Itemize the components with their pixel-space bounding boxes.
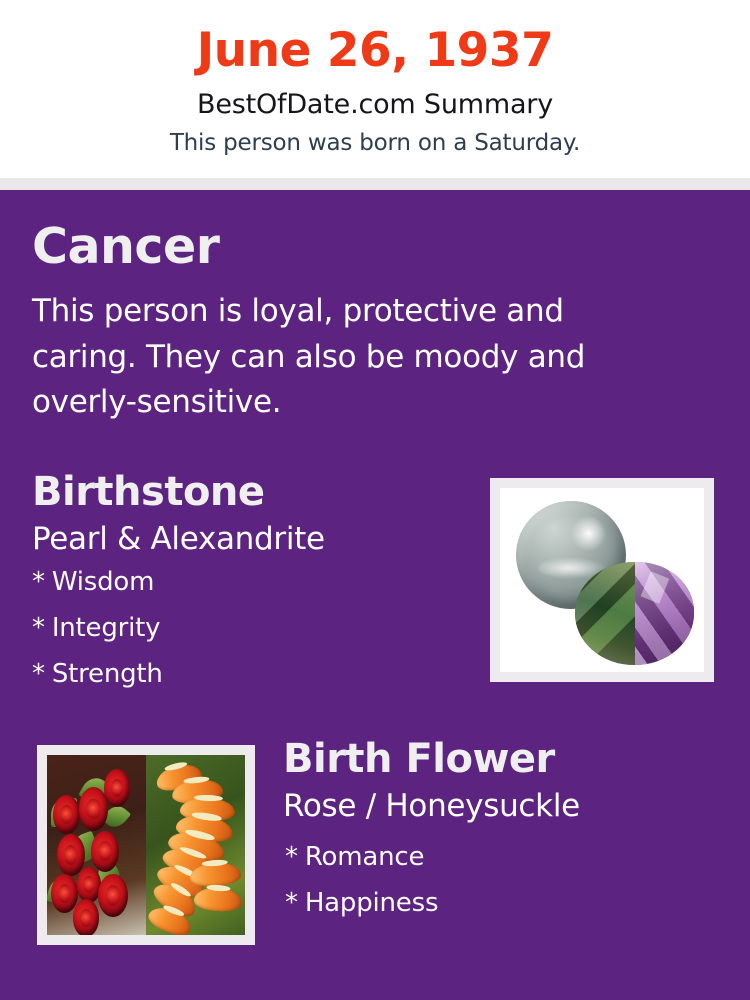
asterisk-icon: * [32,567,45,597]
page-title: June 26, 1937 [0,0,750,74]
site-name-label: BestOfDate.com Summary [0,74,750,118]
rose-photo-half [47,755,146,935]
asterisk-icon: * [285,842,298,872]
list-item: *Strength [32,661,325,687]
birth-flower-image [47,755,245,935]
asterisk-icon: * [32,613,45,643]
summary-card: June 26, 1937 BestOfDate.com Summary Thi… [0,0,750,1000]
birthstone-trait-label: Wisdom [52,567,154,597]
asterisk-icon: * [32,659,45,689]
birthstone-trait-label: Integrity [52,613,161,643]
alexandrite-gemstone-icon [575,562,693,665]
header-divider [0,178,750,190]
birth-flower-section: Birth Flower Rose / Honeysuckle *Romance… [283,739,580,936]
birthstone-image [500,488,704,672]
list-item: *Wisdom [32,569,325,595]
zodiac-sign-name: Cancer [32,222,219,271]
birthstone-name: Pearl & Alexandrite [32,524,325,555]
list-item: *Integrity [32,615,325,641]
birthstone-trait-label: Strength [52,659,163,689]
birthstone-heading: Birthstone [32,472,325,512]
zodiac-sign-description: This person is loyal, protective and car… [32,289,652,426]
birth-flower-trait-label: Happiness [305,888,438,918]
birth-flower-image-frame [37,745,255,945]
card-header: June 26, 1937 BestOfDate.com Summary Thi… [0,0,750,178]
birthstone-image-frame [490,478,714,682]
birth-weekday-text: This person was born on a Saturday. [0,118,750,155]
birthstone-section: Birthstone Pearl & Alexandrite *Wisdom *… [32,472,325,707]
birth-flower-traits-list: *Romance *Happiness [283,844,580,916]
birth-flower-heading: Birth Flower [283,739,580,779]
birth-flower-name: Rose / Honeysuckle [283,791,580,822]
birthstone-traits-list: *Wisdom *Integrity *Strength [32,569,325,687]
list-item: *Happiness [285,890,580,916]
honeysuckle-photo-half [146,755,245,935]
alexandrite-rough-half [575,562,634,665]
list-item: *Romance [285,844,580,870]
birth-flower-trait-label: Romance [305,842,424,872]
asterisk-icon: * [285,888,298,918]
alexandrite-faceted-half [635,562,694,665]
